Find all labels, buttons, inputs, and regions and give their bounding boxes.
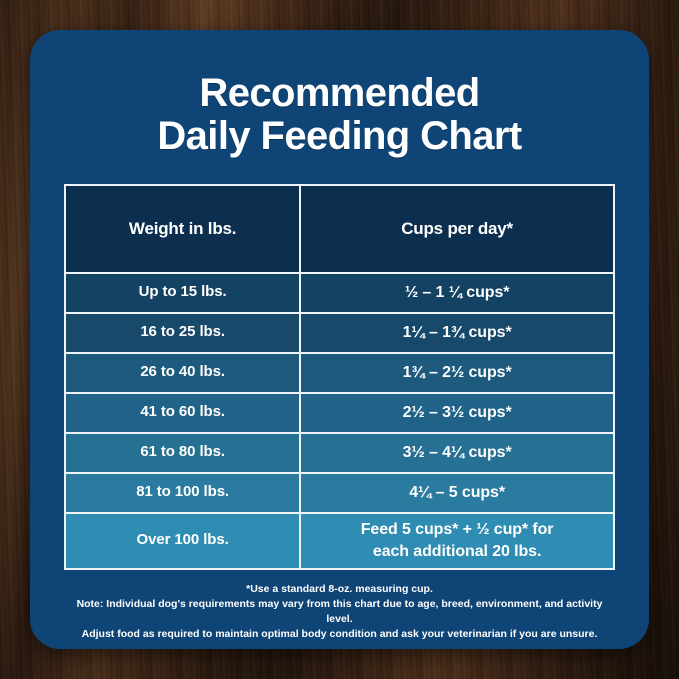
- footnote-measuring-cup: *Use a standard 8-oz. measuring cup.: [64, 582, 615, 597]
- cell-weight: Up to 15 lbs.: [66, 274, 301, 314]
- cell-weight: 41 to 60 lbs.: [66, 394, 301, 434]
- cell-cups: 1¼ – 1¾ cups*: [301, 314, 613, 354]
- column-header-cups: Cups per day*: [301, 186, 613, 274]
- footnote-note-line-1: Note: Individual dog's requirements may …: [64, 597, 615, 627]
- table-body: Up to 15 lbs. ½ – 1 ¼ cups* 16 to 25 lbs…: [66, 274, 613, 568]
- table-row: 26 to 40 lbs. 1¾ – 2½ cups*: [66, 354, 613, 394]
- footnotes: *Use a standard 8-oz. measuring cup. Not…: [64, 582, 615, 643]
- cell-cups: ½ – 1 ¼ cups*: [301, 274, 613, 314]
- table-row: 41 to 60 lbs. 2½ – 3½ cups*: [66, 394, 613, 434]
- table-row: Up to 15 lbs. ½ – 1 ¼ cups*: [66, 274, 613, 314]
- table-header-row: Weight in lbs. Cups per day*: [66, 186, 613, 274]
- feeding-table: Weight in lbs. Cups per day* Up to 15 lb…: [64, 184, 615, 570]
- cell-weight: 81 to 100 lbs.: [66, 474, 301, 514]
- column-header-weight: Weight in lbs.: [66, 186, 301, 274]
- feeding-chart-card: Recommended Daily Feeding Chart Weight i…: [30, 30, 649, 649]
- cell-weight: Over 100 lbs.: [66, 514, 301, 568]
- cell-cups: 3½ – 4¼ cups*: [301, 434, 613, 474]
- cell-cups: 1¾ – 2½ cups*: [301, 354, 613, 394]
- page-title: Recommended Daily Feeding Chart: [64, 72, 615, 158]
- table-row: 81 to 100 lbs. 4¼ – 5 cups*: [66, 474, 613, 514]
- cell-weight: 26 to 40 lbs.: [66, 354, 301, 394]
- cell-cups: Feed 5 cups* + ½ cup* for each additiona…: [301, 514, 613, 568]
- cell-cups: 4¼ – 5 cups*: [301, 474, 613, 514]
- title-line-1: Recommended: [64, 72, 615, 115]
- cell-cups: 2½ – 3½ cups*: [301, 394, 613, 434]
- table-row: 16 to 25 lbs. 1¼ – 1¾ cups*: [66, 314, 613, 354]
- footnote-note-line-2: Adjust food as required to maintain opti…: [64, 627, 615, 642]
- table-row: 61 to 80 lbs. 3½ – 4¼ cups*: [66, 434, 613, 474]
- table-row: Over 100 lbs. Feed 5 cups* + ½ cup* for …: [66, 514, 613, 568]
- cell-weight: 16 to 25 lbs.: [66, 314, 301, 354]
- table-header: Weight in lbs. Cups per day*: [66, 186, 613, 274]
- cell-weight: 61 to 80 lbs.: [66, 434, 301, 474]
- title-line-2: Daily Feeding Chart: [64, 115, 615, 158]
